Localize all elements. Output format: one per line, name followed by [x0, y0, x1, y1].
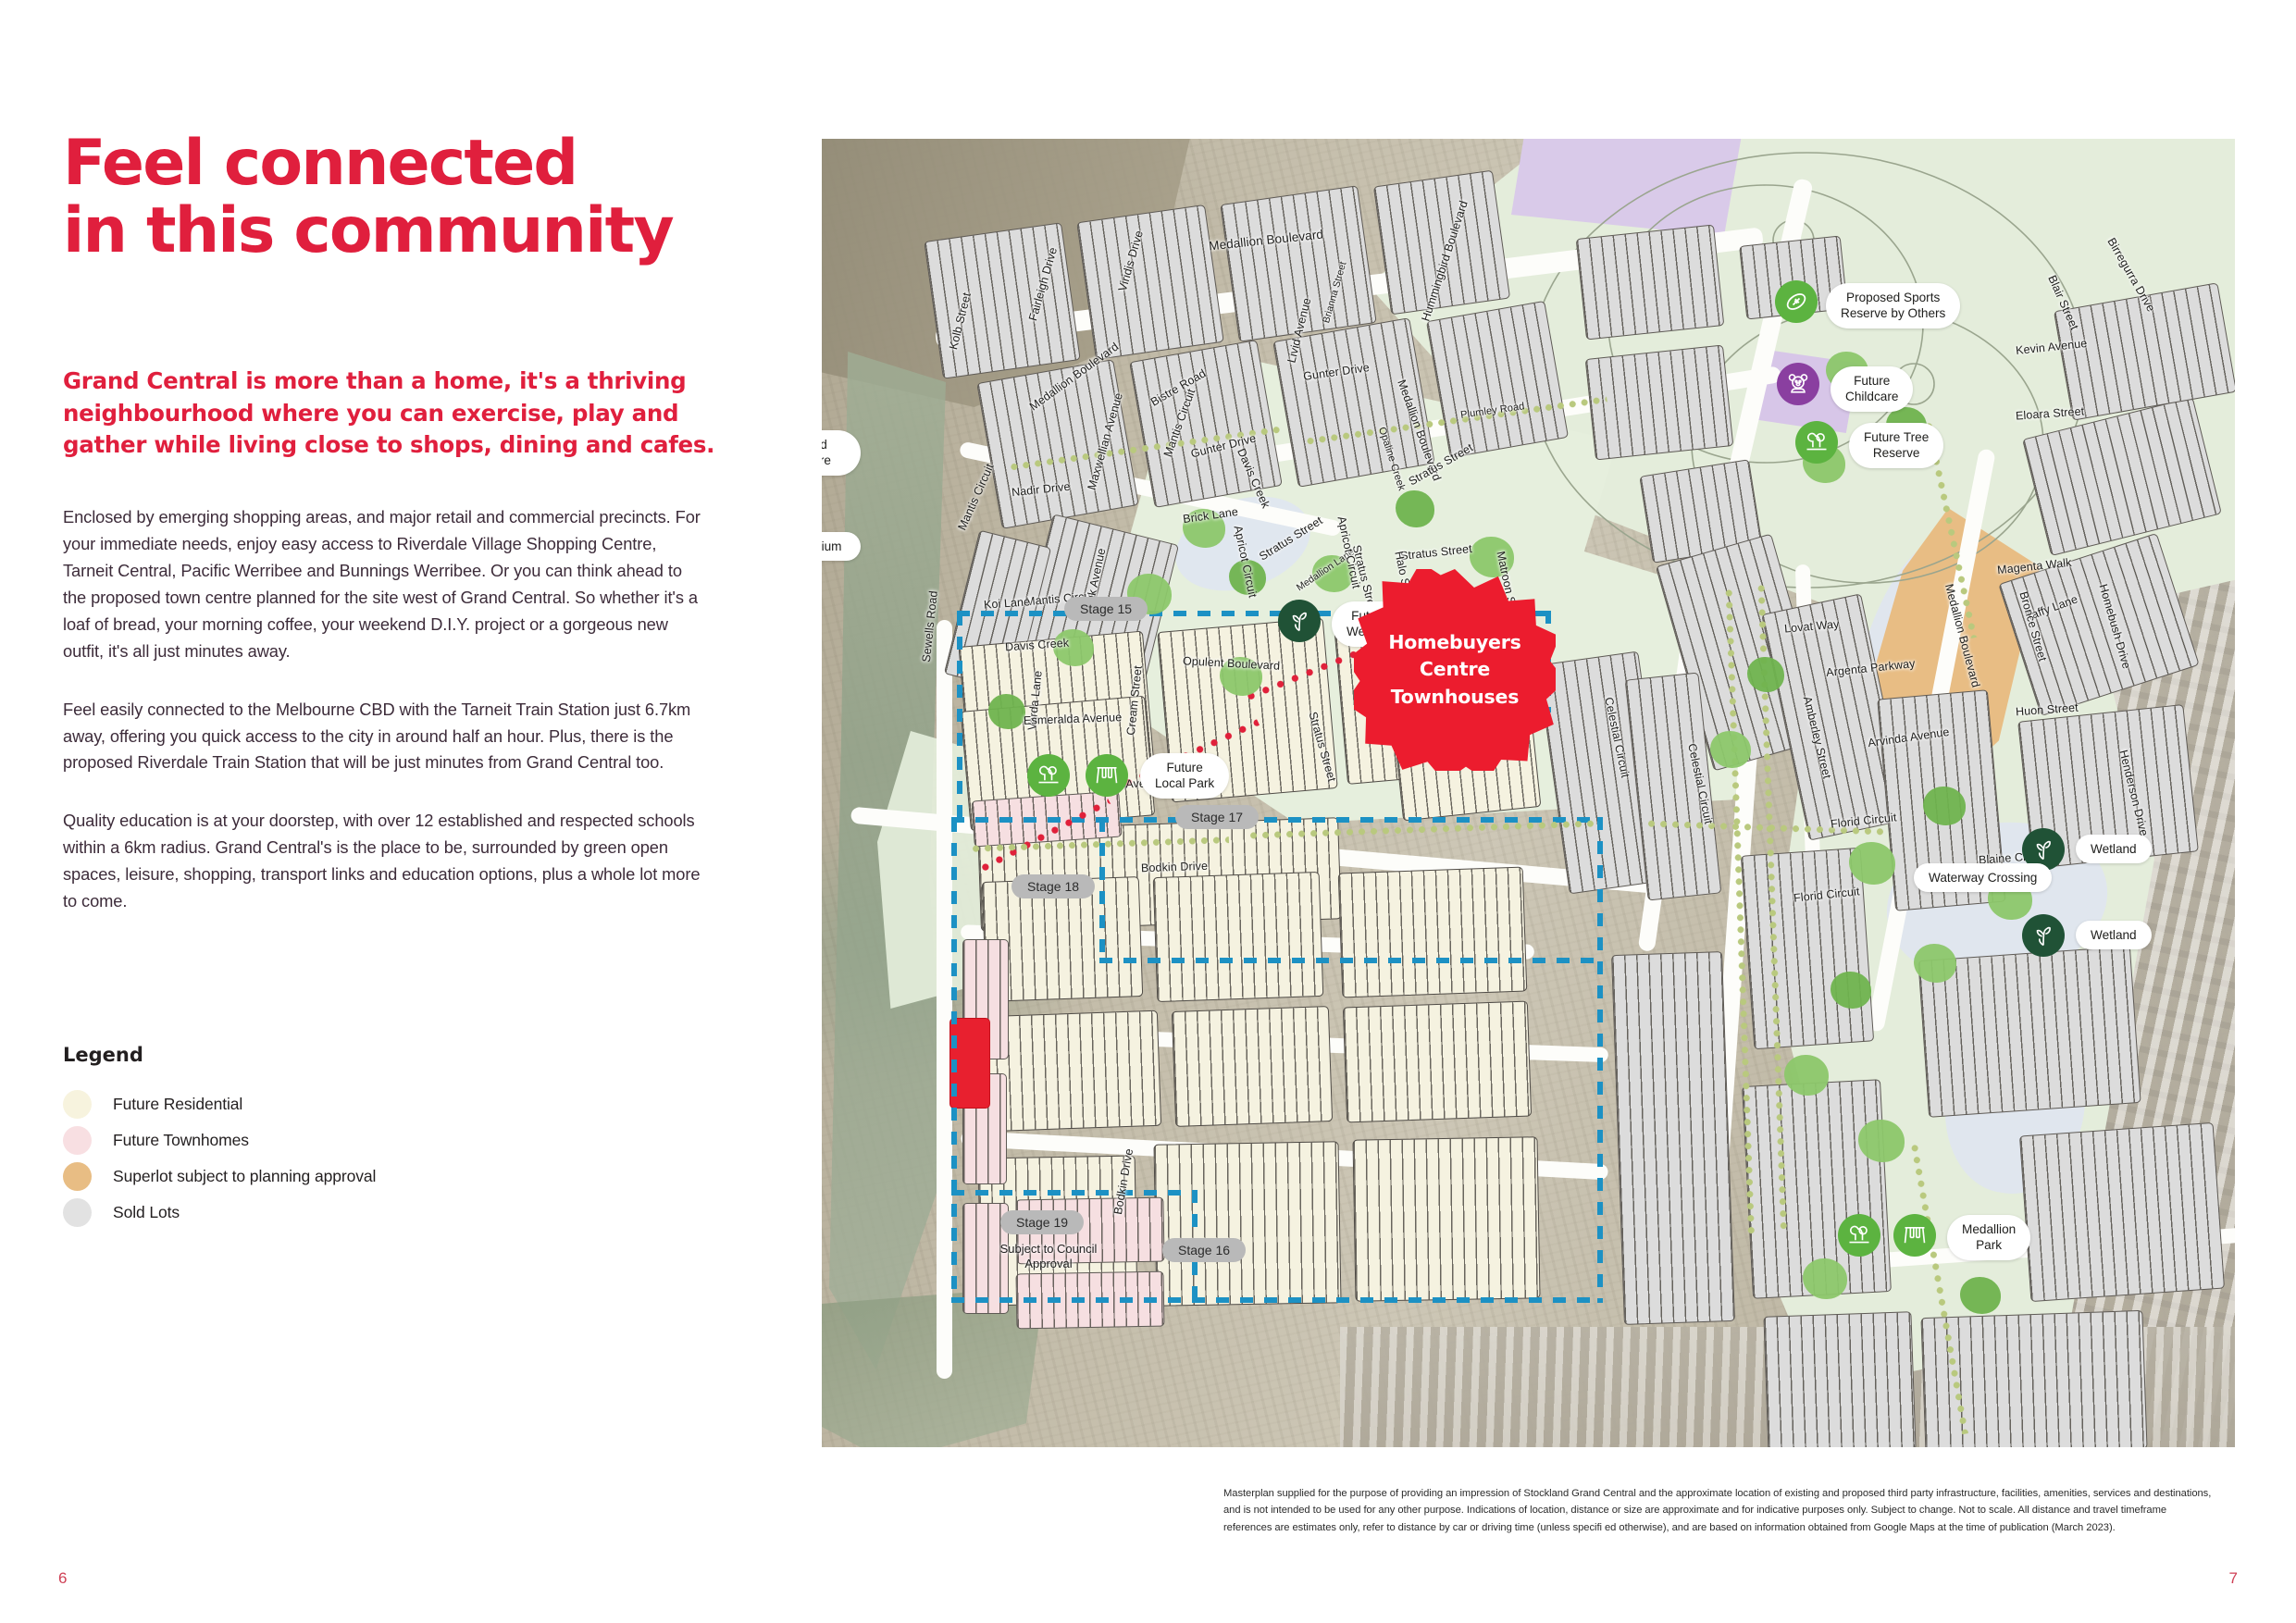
teddy-bear-icon[interactable]: [1777, 363, 1819, 405]
poi-label-proposed-sports-reserve: Proposed Sports Reserve by Others: [1826, 283, 1960, 328]
tree-canopy: [1831, 972, 1871, 1009]
lot-block: [924, 222, 1080, 378]
page-number-left: 6: [58, 1569, 67, 1588]
stage-badge-19: Stage 19: [1000, 1210, 1084, 1234]
tree-canopy: [1747, 657, 1784, 692]
poi-label-future-childcare: Future Childcare: [1831, 366, 1913, 412]
poi-label-future-tree-reserve: Future Tree Reserve: [1849, 423, 1943, 468]
tree-canopy: [1784, 1055, 1829, 1096]
tree-canopy: [1803, 1258, 1847, 1299]
body-paragraph-3: Quality education is at your doorstep, w…: [63, 808, 701, 915]
tree-canopy: [1858, 1120, 1905, 1162]
legend-swatch-sold-lots: [63, 1198, 92, 1227]
body-paragraph-1: Enclosed by emerging shopping areas, and…: [63, 504, 701, 664]
masterplan-disclaimer: Masterplan supplied for the purpose of p…: [1223, 1485, 2215, 1536]
headline-line-1: Feel connected: [63, 127, 577, 200]
tree-canopy: [1849, 842, 1895, 885]
stage-boundary: [1099, 958, 1599, 963]
legend-item-superlot: Superlot subject to planning approval: [63, 1158, 544, 1194]
tree-canopy: [1960, 1277, 2001, 1314]
stage-boundary: [951, 1297, 1599, 1303]
masterplan-map[interactable]: Kolb Street Fairleigh Drive Viridis Driv…: [822, 139, 2235, 1447]
stage-badge-15: Stage 15: [1064, 597, 1148, 621]
headline-line-2: in this community: [63, 197, 766, 265]
text-column: Feel connected in this community Grand C…: [63, 130, 766, 947]
legend-item-sold-lots: Sold Lots: [63, 1195, 544, 1230]
lot-block: [1373, 170, 1510, 316]
brochure-page: Feel connected in this community Grand C…: [0, 0, 2296, 1623]
subheading: Grand Central is more than a home, it's …: [63, 365, 738, 462]
trees-icon[interactable]: [1027, 754, 1070, 797]
lot-block-stage-18: [1172, 1006, 1333, 1127]
stage-badge-17: Stage 17: [1175, 805, 1259, 829]
tree-canopy: [1396, 490, 1434, 527]
legend-label-future-townhomes: Future Townhomes: [113, 1131, 249, 1150]
lot-block: [1426, 301, 1569, 458]
poi-label-wetland-north: Wetland: [2076, 835, 2152, 863]
road-sewells-road: [937, 620, 952, 1379]
edge-label-west-stadium: adium: [822, 532, 861, 561]
football-icon[interactable]: [1775, 280, 1818, 323]
lot-block: [1741, 848, 1874, 1050]
body-paragraph-2: Feel easily connected to the Melbourne C…: [63, 697, 701, 777]
stage-badge-18: Stage 18: [1011, 874, 1095, 898]
map-canvas: Kolb Street Fairleigh Drive Viridis Driv…: [822, 139, 2235, 1447]
lot-block: [2019, 1122, 2225, 1302]
playground-icon[interactable]: [1086, 754, 1128, 797]
lot-block: [1076, 204, 1224, 360]
stage-boundary: [951, 1190, 1197, 1196]
poi-label-waterway-crossing: Waterway Crossing: [1914, 863, 2052, 892]
legend-label-superlot: Superlot subject to planning approval: [113, 1167, 376, 1186]
lot-block-stage-18: [982, 1010, 1161, 1133]
reeds-icon[interactable]: [2022, 914, 2065, 957]
page-number-right: 7: [2229, 1569, 2238, 1588]
playground-icon[interactable]: [1893, 1214, 1936, 1257]
legend-swatch-future-residential: [63, 1090, 92, 1119]
legend-swatch-superlot: [63, 1162, 92, 1191]
stage-boundary: [957, 613, 962, 825]
lot-block-stage-17: [1338, 867, 1528, 998]
lot-block-stage-17: [1153, 872, 1324, 1002]
lot-block: [1576, 224, 1725, 340]
stage-boundary: [1597, 817, 1603, 1303]
legend: Legend Future Residential Future Townhom…: [63, 1044, 544, 1231]
legend-item-future-residential: Future Residential: [63, 1086, 544, 1121]
tree-canopy: [988, 694, 1025, 729]
legend-item-future-townhomes: Future Townhomes: [63, 1122, 544, 1158]
lot-block: [1343, 1001, 1532, 1123]
poi-label-wetland-south: Wetland: [2076, 921, 2152, 949]
tree-canopy: [1914, 944, 1956, 983]
poi-label-future-local-park: Future Local Park: [1140, 753, 1229, 799]
street-label: Bodkin Drive: [1141, 860, 1209, 875]
poi-label-medallion-park: Medallion Park: [1947, 1215, 2030, 1260]
tree-canopy: [1923, 787, 1966, 825]
trees-icon[interactable]: [1838, 1214, 1880, 1257]
trees-icon[interactable]: [1795, 421, 1838, 464]
scrub-vegetation-strip-south: [822, 1286, 1044, 1447]
legend-title: Legend: [63, 1044, 544, 1066]
lot-block-stage-16: [1352, 1136, 1540, 1301]
stage-badge-16: Stage 16: [1162, 1238, 1246, 1262]
homebuyers-centre-badge-label: Homebuyers Centre Townhouses: [1388, 629, 1520, 710]
page-headline: Feel connected in this community: [63, 130, 766, 266]
lot-block: [1763, 1311, 1916, 1447]
legend-swatch-future-townhomes: [63, 1126, 92, 1155]
tree-canopy: [1710, 731, 1751, 768]
lot-block: [1611, 951, 1735, 1325]
stage-boundary: [951, 819, 957, 1300]
lot-block-stage-16: [1153, 1141, 1341, 1306]
legend-label-sold-lots: Sold Lots: [113, 1203, 180, 1222]
stage-19-approval-note: Subject to Council Approval: [961, 1242, 1136, 1270]
reeds-icon[interactable]: [1278, 600, 1321, 642]
legend-label-future-residential: Future Residential: [113, 1095, 242, 1114]
